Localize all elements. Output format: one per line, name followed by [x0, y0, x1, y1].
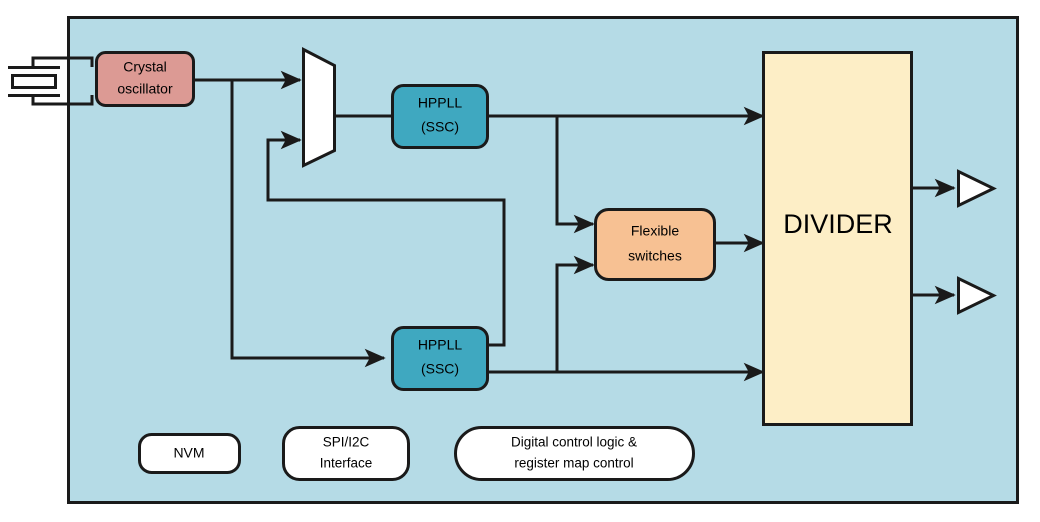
nvm-block[interactable]: NVM	[140, 435, 240, 473]
hppll-top-block[interactable]: HPPLL (SSC)	[393, 86, 488, 148]
digital-control-block[interactable]: Digital control logic & register map con…	[456, 428, 694, 480]
hppll-bottom-block[interactable]: HPPLL (SSC)	[393, 328, 488, 390]
block-diagram-canvas: Crystal oscillator HPPLL (SSC) HPPLL (SS…	[0, 0, 1040, 522]
mux-block[interactable]	[304, 50, 335, 166]
divider-block[interactable]: DIVIDER	[764, 53, 912, 425]
flexible-switches-block[interactable]: Flexible switches	[596, 210, 715, 280]
spi-i2c-block[interactable]: SPI/I2C Interface	[284, 428, 409, 480]
crystal-oscillator-block[interactable]: Crystal oscillator	[97, 53, 194, 106]
